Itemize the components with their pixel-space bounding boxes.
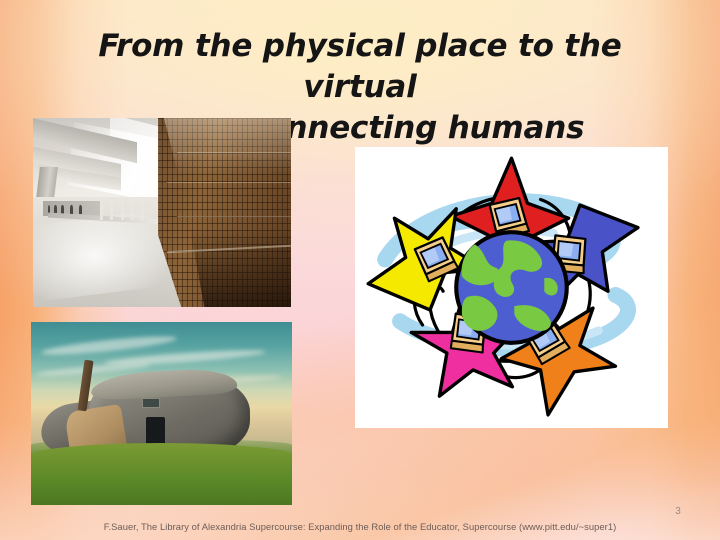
clipart-globe: [456, 232, 567, 343]
library-corridor-photo: [33, 118, 291, 307]
stone-house-photo: [31, 322, 292, 505]
stone-house-window: [142, 398, 160, 408]
stone-house-photo-content: [31, 322, 292, 505]
library-photo-content: [33, 118, 291, 307]
global-network-clipart: [355, 147, 668, 428]
stone-house-grass-hill: [31, 443, 292, 505]
slide-canvas: From the physical place to the virtual s…: [0, 0, 720, 540]
slide-number: 3: [664, 506, 692, 517]
clipart-illustration: [355, 147, 668, 428]
slide-footer-credit: F.Sauer, The Library of Alexandria Super…: [0, 521, 720, 532]
